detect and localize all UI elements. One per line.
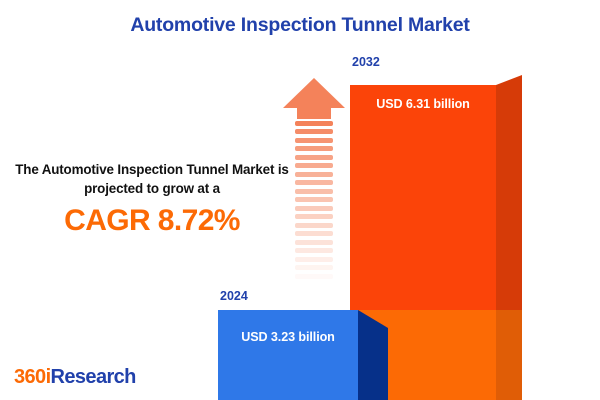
arrow-stripe [295, 180, 333, 185]
arrow-stripes [295, 121, 333, 291]
bar-2024-year-label: 2024 [220, 289, 248, 303]
bar-2024-front-face [218, 310, 358, 400]
annotation-block: The Automotive Inspection Tunnel Market … [12, 160, 292, 236]
arrow-stripe [295, 189, 333, 194]
arrow-stripe [295, 129, 333, 134]
arrow-stripe [295, 155, 333, 160]
growth-arrow-icon [283, 78, 345, 293]
bar-2032-year-label: 2032 [352, 55, 380, 69]
arrow-stripe [295, 206, 333, 211]
bar-2024-side-face [358, 310, 388, 400]
brand-logo-prefix: 360i [14, 366, 51, 388]
arrow-stripe [295, 214, 333, 219]
brand-logo: 360iResearch [14, 366, 136, 389]
arrow-stripe [295, 223, 333, 228]
arrow-stripe [295, 265, 333, 270]
cagr-value: CAGR 8.72% [12, 205, 292, 237]
arrow-stripe [295, 163, 333, 168]
arrow-stripe [295, 146, 333, 151]
bar-2024-value-label: USD 3.23 billion [218, 330, 358, 344]
bar-2032-side-face-lower [496, 310, 522, 400]
arrow-stripe [295, 197, 333, 202]
arrow-stripe [295, 282, 333, 287]
infographic-canvas: Automotive Inspection Tunnel Market The … [0, 0, 600, 400]
arrow-stripe [295, 121, 333, 126]
arrow-stripe [295, 257, 333, 262]
arrow-stripe [295, 138, 333, 143]
page-title: Automotive Inspection Tunnel Market [0, 14, 600, 37]
arrow-head-icon [283, 78, 345, 108]
arrow-stripe [295, 240, 333, 245]
arrow-stripe [295, 172, 333, 177]
arrow-stripe [295, 248, 333, 253]
annotation-text: The Automotive Inspection Tunnel Market … [12, 160, 292, 199]
bar-2032-value-label: USD 6.31 billion [350, 97, 496, 111]
brand-logo-suffix: Research [51, 366, 136, 388]
bar-2024: 2024 USD 3.23 billion [218, 310, 388, 400]
arrow-stripe [295, 231, 333, 236]
arrow-stripe [295, 274, 333, 279]
arrow-neck [297, 108, 331, 119]
